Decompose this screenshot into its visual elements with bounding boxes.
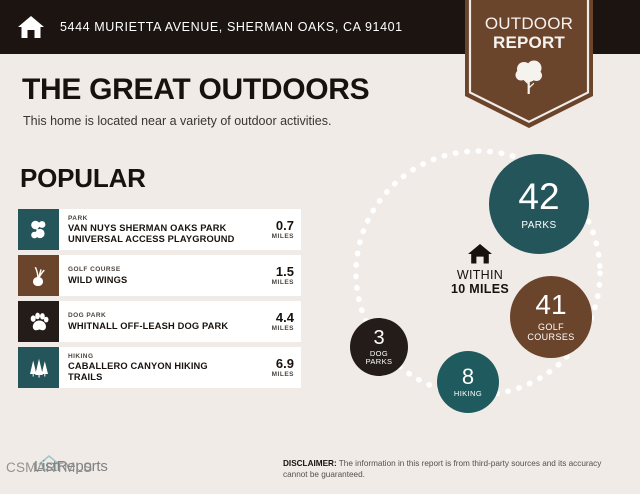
poi-name-line1: WILD WINGS xyxy=(68,275,252,286)
poi-name-line2: TRAILS xyxy=(68,372,252,383)
stat-value: 3 xyxy=(373,328,384,348)
poi-name-line1: VAN NUYS SHERMAN OAKS PARK xyxy=(68,223,252,234)
stat-label: HIKING xyxy=(454,390,482,398)
poi-distance: 1.5 MILES xyxy=(252,255,301,296)
poi-category: DOG PARK xyxy=(68,312,252,321)
poi-icon-tile xyxy=(18,301,59,342)
stat-circle-dog-parks[interactable]: 3 DOG PARKS xyxy=(350,318,408,376)
stat-label-line1: GOLF xyxy=(538,322,564,332)
stat-label: GOLF COURSES xyxy=(527,323,574,343)
poi-distance: 6.9 MILES xyxy=(252,347,301,388)
within-10-miles-diagram: 42 PARKS 41 GOLF COURSES 3 DOG PARKS 8 H… xyxy=(330,148,630,428)
poi-distance-value: 4.4 xyxy=(276,311,294,324)
poi-category: GOLF COURSE xyxy=(68,266,252,275)
pine-trees-icon xyxy=(27,356,51,380)
stat-label-line2: PARKS xyxy=(366,357,393,366)
stat-circle-parks[interactable]: 42 PARKS xyxy=(489,154,589,254)
list-item[interactable]: GOLF COURSE WILD WINGS 1.5 MILES xyxy=(18,255,301,296)
poi-name-line1: WHITNALL OFF-LEASH DOG PARK xyxy=(68,321,252,332)
list-item[interactable]: DOG PARK WHITNALL OFF-LEASH DOG PARK 4.4… xyxy=(18,301,301,342)
diagram-center: WITHIN 10 MILES xyxy=(422,243,538,296)
disclaimer-label: DISCLAIMER: xyxy=(283,459,337,468)
poi-distance-value: 1.5 xyxy=(276,265,294,278)
list-item[interactable]: HIKING CABALLERO CANYON HIKING TRAILS 6.… xyxy=(18,347,301,388)
mls-watermark: CSMARTMLS xyxy=(6,460,92,475)
popular-heading: POPULAR xyxy=(20,163,146,194)
list-item[interactable]: PARK VAN NUYS SHERMAN OAKS PARK UNIVERSA… xyxy=(18,209,301,250)
poi-distance-unit: MILES xyxy=(272,324,294,333)
poi-text: PARK VAN NUYS SHERMAN OAKS PARK UNIVERSA… xyxy=(59,209,252,250)
badge-title-line2: REPORT xyxy=(465,33,593,52)
poi-category: PARK xyxy=(68,215,252,224)
poi-name-line1: CABALLERO CANYON HIKING xyxy=(68,361,252,372)
outdoor-report-badge: OUTDOOR REPORT xyxy=(465,0,593,128)
page-title: THE GREAT OUTDOORS xyxy=(22,73,369,107)
poi-distance-unit: MILES xyxy=(272,370,294,379)
badge-title: OUTDOOR REPORT xyxy=(465,14,593,52)
home-icon xyxy=(16,12,46,42)
stat-circle-hiking[interactable]: 8 HIKING xyxy=(437,351,499,413)
disclaimer: DISCLAIMER: The information in this repo… xyxy=(283,458,623,480)
stat-value: 8 xyxy=(462,366,474,388)
poi-text: GOLF COURSE WILD WINGS xyxy=(59,255,252,296)
poi-text: HIKING CABALLERO CANYON HIKING TRAILS xyxy=(59,347,252,388)
stat-label: PARKS xyxy=(521,220,556,231)
stat-label-line2: COURSES xyxy=(527,332,574,342)
poi-distance-unit: MILES xyxy=(272,278,294,287)
poi-distance: 0.7 MILES xyxy=(252,209,301,250)
diagram-center-line1: WITHIN xyxy=(422,268,538,282)
stat-value: 41 xyxy=(535,291,566,319)
popular-list: PARK VAN NUYS SHERMAN OAKS PARK UNIVERSA… xyxy=(18,209,301,393)
golf-icon xyxy=(27,264,51,288)
property-address: 5444 MURIETTA AVENUE, SHERMAN OAKS, CA 9… xyxy=(60,20,403,34)
stat-label: DOG PARKS xyxy=(366,350,393,367)
stat-value: 42 xyxy=(518,178,559,215)
page-subtitle: This home is located near a variety of o… xyxy=(23,114,331,128)
diagram-center-line2: 10 MILES xyxy=(422,282,538,296)
footer-logo: ListReports CSMARTMLS xyxy=(6,452,166,482)
home-icon xyxy=(467,243,493,265)
badge-title-line1: OUTDOOR xyxy=(465,14,593,33)
poi-category: HIKING xyxy=(68,353,252,362)
poi-distance-value: 6.9 xyxy=(276,357,294,370)
poi-distance: 4.4 MILES xyxy=(252,301,301,342)
tree-icon xyxy=(514,58,544,96)
poi-icon-tile xyxy=(18,255,59,296)
paw-icon xyxy=(27,310,51,334)
poi-icon-tile xyxy=(18,209,59,250)
poi-distance-unit: MILES xyxy=(272,232,294,241)
poi-icon-tile xyxy=(18,347,59,388)
park-tree-icon xyxy=(27,218,51,242)
poi-distance-value: 0.7 xyxy=(276,219,294,232)
poi-text: DOG PARK WHITNALL OFF-LEASH DOG PARK xyxy=(59,301,252,342)
poi-name-line2: UNIVERSAL ACCESS PLAYGROUND xyxy=(68,234,252,245)
